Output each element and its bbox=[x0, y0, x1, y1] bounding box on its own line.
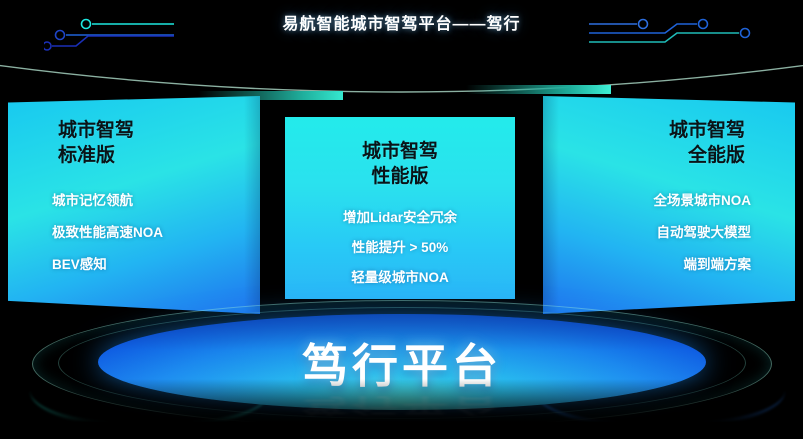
accent-bar-right bbox=[466, 85, 611, 94]
feature-item: 性能提升 > 50% bbox=[307, 241, 493, 256]
feature-item: 端到端方案 bbox=[565, 258, 751, 273]
panel-performance-features: 增加Lidar安全冗余 性能提升 > 50% 轻量级城市NOA bbox=[307, 211, 493, 286]
feature-item: 全场景城市NOA bbox=[565, 194, 751, 209]
feature-item: 极致性能高速NOA bbox=[52, 226, 238, 241]
panel-performance-title: 城市智驾 性能版 bbox=[307, 139, 493, 189]
panel-full[interactable]: 城市智驾 全能版 全场景城市NOA 自动驾驶大模型 端到端方案 bbox=[543, 96, 795, 314]
feature-item: 城市记忆领航 bbox=[52, 194, 238, 209]
panel-standard[interactable]: 城市智驾 标准版 城市记忆领航 极致性能高速NOA BEV感知 bbox=[8, 96, 260, 314]
feature-item: BEV感知 bbox=[52, 258, 238, 273]
panel-performance[interactable]: 城市智驾 性能版 增加Lidar安全冗余 性能提升 > 50% 轻量级城市NOA bbox=[285, 117, 515, 299]
slide-canvas: 易航智能城市智驾平台——驾行 城市智驾 标准版 城市记忆领航 极致性能高速NOA… bbox=[0, 0, 803, 439]
bottom-vignette bbox=[0, 379, 803, 439]
feature-item: 轻量级城市NOA bbox=[307, 271, 493, 286]
panel-full-title: 城市智驾 全能版 bbox=[565, 118, 773, 168]
feature-item: 增加Lidar安全冗余 bbox=[307, 211, 493, 226]
feature-item: 自动驾驶大模型 bbox=[565, 226, 751, 241]
panel-standard-features: 城市记忆领航 极致性能高速NOA BEV感知 bbox=[30, 194, 238, 273]
slide-header: 易航智能城市智驾平台——驾行 bbox=[0, 0, 803, 56]
panel-standard-title: 城市智驾 标准版 bbox=[30, 118, 238, 168]
circuit-lines-icon bbox=[579, 4, 759, 52]
panel-full-features: 全场景城市NOA 自动驾驶大模型 端到端方案 bbox=[565, 194, 773, 273]
